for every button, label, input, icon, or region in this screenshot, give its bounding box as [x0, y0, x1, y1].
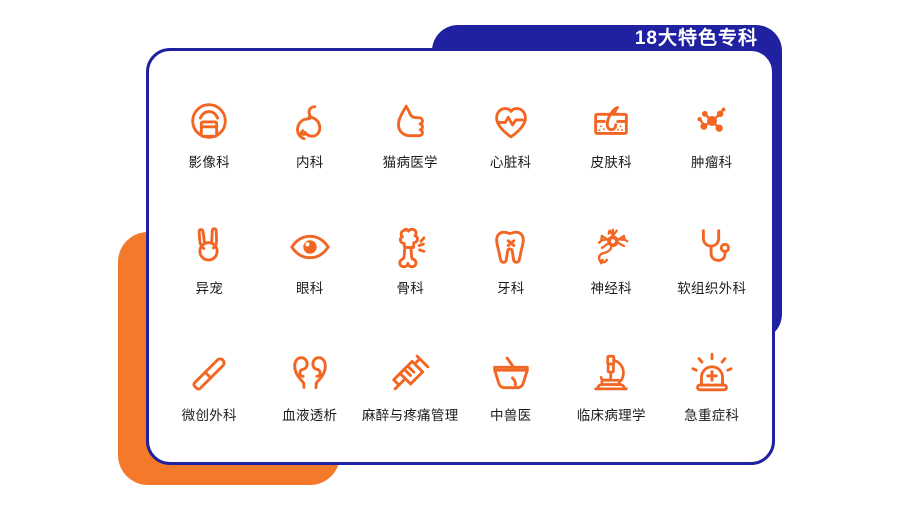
specialty-label: 临床病理学 — [577, 409, 646, 423]
specialty-label: 牙科 — [497, 282, 525, 296]
specialty-item[interactable]: 眼科 — [260, 195, 361, 321]
kidneys-icon — [283, 348, 337, 400]
rabbit-icon — [182, 221, 236, 273]
mortar-pestle-icon — [484, 348, 538, 400]
specialty-item[interactable]: 临床病理学 — [561, 322, 662, 448]
microscope-icon — [584, 348, 638, 400]
specialty-item[interactable]: 皮肤科 — [561, 69, 662, 195]
specialty-label: 肿瘤科 — [691, 156, 732, 170]
specialty-label: 异宠 — [195, 282, 223, 296]
specialties-card: 影像科 内科 猫病医学 心脏科 皮肤科 — [146, 48, 775, 465]
specialty-label: 眼科 — [296, 282, 324, 296]
specialty-label: 软组织外科 — [677, 282, 746, 296]
banner-title-bar: 18大特色专科 — [432, 25, 782, 51]
specialty-item[interactable]: 内科 — [260, 69, 361, 195]
syringe-icon — [383, 348, 437, 400]
heart-pulse-icon — [484, 95, 538, 147]
poster-stage: 18大特色专科 影像科 内科 猫病医学 心脏科 皮肤科 — [0, 0, 900, 510]
tumor-cells-icon — [685, 95, 739, 147]
specialty-item[interactable]: 软组织外科 — [662, 195, 763, 321]
specialty-item[interactable]: 异宠 — [159, 195, 260, 321]
specialty-label: 猫病医学 — [383, 156, 438, 170]
specialty-label: 内科 — [296, 156, 324, 170]
eye-icon — [283, 221, 337, 273]
specialty-label: 影像科 — [189, 156, 230, 170]
specialty-item[interactable]: 心脏科 — [461, 69, 562, 195]
specialty-item[interactable]: 猫病医学 — [360, 69, 461, 195]
specialty-item[interactable]: 影像科 — [159, 69, 260, 195]
specialty-item[interactable]: 血液透析 — [260, 322, 361, 448]
tooth-icon — [484, 221, 538, 273]
specialty-label: 微创外科 — [182, 409, 237, 423]
neuron-icon — [584, 221, 638, 273]
specialty-label: 急重症科 — [684, 409, 739, 423]
specialty-label: 中兽医 — [490, 409, 531, 423]
scalpel-icon — [182, 348, 236, 400]
stethoscope-icon — [685, 221, 739, 273]
specialty-item[interactable]: 中兽医 — [461, 322, 562, 448]
specialties-grid: 影像科 内科 猫病医学 心脏科 皮肤科 — [149, 51, 772, 462]
specialty-label: 神经科 — [591, 282, 632, 296]
page-title: 18大特色专科 — [635, 29, 758, 48]
specialty-label: 骨科 — [396, 282, 424, 296]
specialty-item[interactable]: 肿瘤科 — [662, 69, 763, 195]
specialty-item[interactable]: 微创外科 — [159, 322, 260, 448]
specialty-label: 心脏科 — [490, 156, 531, 170]
specialty-item[interactable]: 牙科 — [461, 195, 562, 321]
specialty-item[interactable]: 神经科 — [561, 195, 662, 321]
specialty-item[interactable]: 急重症科 — [662, 322, 763, 448]
bone-joint-icon — [383, 221, 437, 273]
specialty-label: 麻醉与疼痛管理 — [362, 409, 459, 423]
skin-follicle-icon — [584, 95, 638, 147]
cat-head-icon — [383, 95, 437, 147]
emergency-light-icon — [685, 348, 739, 400]
specialty-item[interactable]: 麻醉与疼痛管理 — [360, 322, 461, 448]
specialty-label: 皮肤科 — [591, 156, 632, 170]
specialty-item[interactable]: 骨科 — [360, 195, 461, 321]
ct-scanner-icon — [182, 95, 236, 147]
stomach-icon — [283, 95, 337, 147]
specialty-label: 血液透析 — [282, 409, 337, 423]
